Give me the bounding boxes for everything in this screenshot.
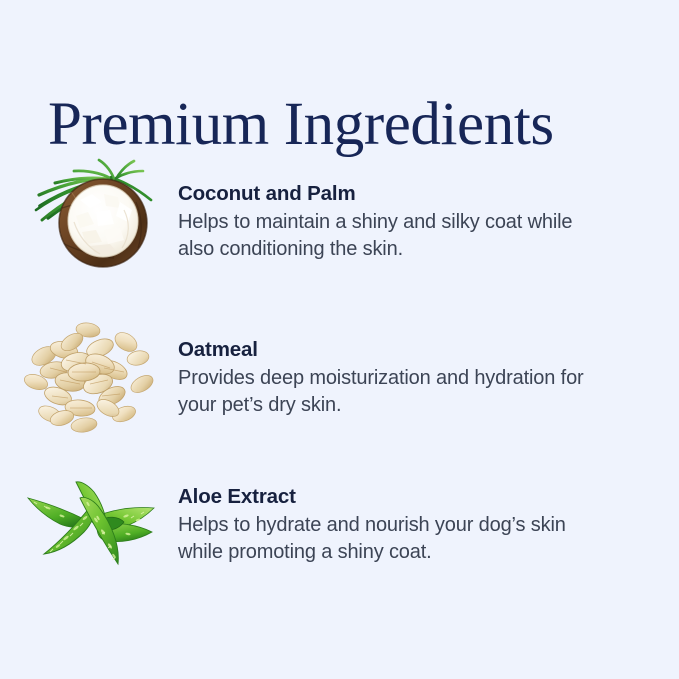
oatmeal-image xyxy=(14,312,164,437)
ingredient-item-aloe-extract: Aloe Extract Helps to hydrate and nouris… xyxy=(0,468,679,578)
ingredient-text-block: Aloe Extract Helps to hydrate and nouris… xyxy=(178,484,648,566)
ingredient-item-coconut-and-palm: Coconut and Palm Helps to maintain a shi… xyxy=(0,148,679,288)
aloe-leaf-group xyxy=(28,482,154,564)
aloe-extract-image xyxy=(14,468,164,578)
ingredient-name: Oatmeal xyxy=(178,337,648,362)
ingredient-name: Aloe Extract xyxy=(178,484,648,509)
premium-ingredients-page: Premium Ingredients xyxy=(0,0,679,679)
ingredient-text-block: Oatmeal Provides deep moisturization and… xyxy=(178,337,648,419)
ingredient-description: Helps to maintain a shiny and silky coat… xyxy=(178,209,598,263)
ingredient-list: Coconut and Palm Helps to maintain a shi… xyxy=(0,0,679,679)
ingredient-description: Provides deep moisturization and hydrati… xyxy=(178,365,598,419)
ingredient-description: Helps to hydrate and nourish your dog’s … xyxy=(178,512,598,566)
oat-flake-pile xyxy=(22,321,155,433)
ingredient-item-oatmeal: Oatmeal Provides deep moisturization and… xyxy=(0,312,679,437)
ingredient-name: Coconut and Palm xyxy=(178,181,648,206)
ingredient-text-block: Coconut and Palm Helps to maintain a shi… xyxy=(178,181,648,263)
coconut-and-palm-image xyxy=(14,150,164,290)
